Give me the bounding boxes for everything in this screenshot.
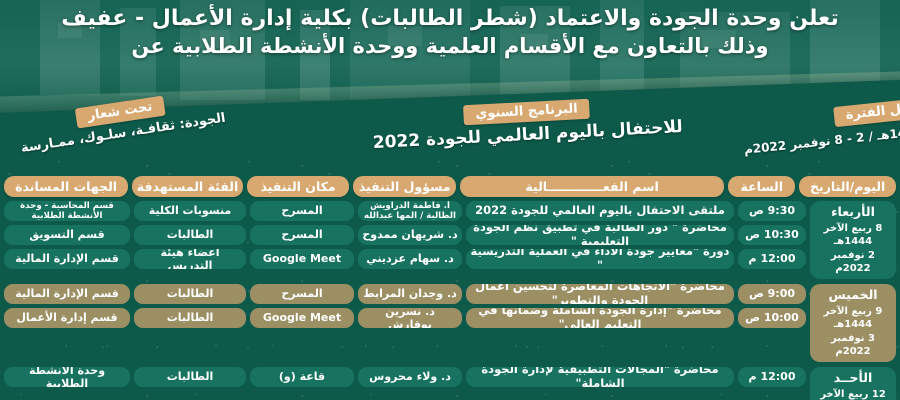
- hijri-date: 8 ربيع الآخر 1444هـ: [812, 222, 894, 249]
- column-header-time: الساعة: [728, 176, 795, 197]
- day-of-week: الأحــد: [834, 370, 872, 387]
- column-header-support: الجهات المساندة: [4, 176, 128, 197]
- day-date-cell: الخميس9 ربيع الآخر 1444هـ3 نوفمبر 2022م: [810, 284, 896, 362]
- cell-support: قسم إدارة الأعمال: [4, 308, 130, 328]
- cell-place: Google Meet: [250, 249, 354, 269]
- cell-event: دورة "معايير جودة الأداء في العملية التد…: [466, 249, 734, 269]
- cell-target: الطالبات: [134, 367, 246, 387]
- table-row: 12:00 ممحاضرة "المجالات التطبيقية لإدارة…: [4, 367, 806, 387]
- cell-target: منسوبات الكلية: [134, 201, 246, 221]
- cell-owner: د. شريهان ممدوح: [358, 225, 462, 245]
- day-date-cell: الأحــد12 ربيع الآخر 1444هـ6 نوفمبر 2022…: [810, 367, 896, 400]
- cell-support: وحدة الأنشطة الطلابية: [4, 367, 130, 387]
- table-row: 10:00 صمحاضرة "إدارة الجودة الشاملة وضما…: [4, 308, 806, 328]
- column-header-date: اليوم/التاريخ: [799, 176, 896, 197]
- table-body: الأربعاء8 ربيع الآخر 1444هـ2 نوفمبر 2022…: [0, 201, 900, 400]
- cell-target: أعضاء هيئة التدريس: [134, 249, 246, 269]
- cell-time: 9:30 ص: [738, 201, 806, 221]
- cell-target: الطالبات: [134, 284, 246, 304]
- cell-support: قسم الإدارة المالية: [4, 284, 130, 304]
- day-of-week: الخميس: [828, 287, 877, 304]
- table-row: 9:30 صملتقى الاحتفال باليوم العالمي للجو…: [4, 201, 806, 221]
- cell-support: قسم الإدارة المالية: [4, 249, 130, 269]
- hijri-date: 12 ربيع الآخر 1444هـ: [812, 388, 894, 400]
- cell-time: 12:00 م: [738, 249, 806, 269]
- cell-time: 10:30 ص: [738, 225, 806, 245]
- program-tag: البرنامج السنوي: [463, 99, 590, 126]
- table-row: 10:30 صمحاضرة " دور الطالبة في تطبيق نظم…: [4, 225, 806, 245]
- schedule-day-group: الأربعاء8 ربيع الآخر 1444هـ2 نوفمبر 2022…: [0, 201, 900, 279]
- cell-owner: أ. فاطمة الدراويش الطالبة / المها عبدالل…: [358, 201, 462, 221]
- cell-place: المسرح: [250, 225, 354, 245]
- day-of-week: الأربعاء: [831, 204, 875, 221]
- schedule-day-group: الخميس9 ربيع الآخر 1444هـ3 نوفمبر 2022م9…: [0, 284, 900, 362]
- cell-support: قسم المحاسبة - وحدة الأنشطة الطلابية: [4, 201, 130, 221]
- cell-event: محاضرة " دور الطالبة في تطبيق نظم الجودة…: [466, 225, 734, 245]
- column-header-event: اسم الفعـــــــــــــالية: [460, 176, 724, 197]
- column-header-place: مكان التنفيذ: [247, 176, 350, 197]
- cell-owner: د. ولاء محروس: [358, 367, 462, 387]
- poster-headline: تعلن وحدة الجودة والاعتماد (شطر الطالبات…: [0, 4, 900, 61]
- cell-owner: د. نسرين بوقارش: [358, 308, 462, 328]
- table-header-row: اليوم/التاريخالساعةاسم الفعـــــــــــــ…: [0, 176, 900, 197]
- cell-time: 12:00 م: [738, 367, 806, 387]
- table-row: 12:00 مدورة "معايير جودة الأداء في العمل…: [4, 249, 806, 269]
- hijri-date: 9 ربيع الآخر 1444هـ: [812, 305, 894, 332]
- cell-place: المسرح: [250, 201, 354, 221]
- headline-line-1: تعلن وحدة الجودة والاعتماد (شطر الطالبات…: [0, 4, 900, 33]
- cell-time: 9:00 ص: [738, 284, 806, 304]
- column-header-owner: مسؤول التنفيذ: [353, 176, 456, 197]
- cell-target: الطالبات: [134, 225, 246, 245]
- cell-target: الطالبات: [134, 308, 246, 328]
- cell-event: محاضرة "إدارة الجودة الشاملة وضمانها في …: [466, 308, 734, 328]
- quality-day-program-poster: تعلن وحدة الجودة والاعتماد (شطر الطالبات…: [0, 0, 900, 400]
- day-date-cell: الأربعاء8 ربيع الآخر 1444هـ2 نوفمبر 2022…: [810, 201, 896, 279]
- cell-owner: د. وجدان المرابط: [358, 284, 462, 304]
- gregorian-date: 3 نوفمبر 2022م: [812, 332, 894, 359]
- cell-place: قاعة (و): [250, 367, 354, 387]
- cell-owner: د. سهام عزديني: [358, 249, 462, 269]
- cell-event: محاضرة "المجالات التطبيقية لإدارة الجودة…: [466, 367, 734, 387]
- column-header-target: الفئة المستهدفة: [132, 176, 242, 197]
- cell-event: ملتقى الاحتفال باليوم العالمي للجودة 202…: [466, 201, 734, 221]
- gregorian-date: 2 نوفمبر 2022م: [812, 249, 894, 276]
- schedule-table: اليوم/التاريخالساعةاسم الفعـــــــــــــ…: [0, 176, 900, 400]
- cell-place: المسرح: [250, 284, 354, 304]
- schedule-day-group: الأحــد12 ربيع الآخر 1444هـ6 نوفمبر 2022…: [0, 367, 900, 400]
- table-row: 9:00 صمحاضرة "الاتجاهات المعاصرة لتحسين …: [4, 284, 806, 304]
- cell-support: قسم التسويق: [4, 225, 130, 245]
- cell-event: محاضرة "الاتجاهات المعاصرة لتحسين أعمال …: [466, 284, 734, 304]
- cell-place: Google Meet: [250, 308, 354, 328]
- cell-time: 10:00 ص: [738, 308, 806, 328]
- headline-line-2: وذلك بالتعاون مع الأقسام العلمية ووحدة ا…: [0, 33, 900, 61]
